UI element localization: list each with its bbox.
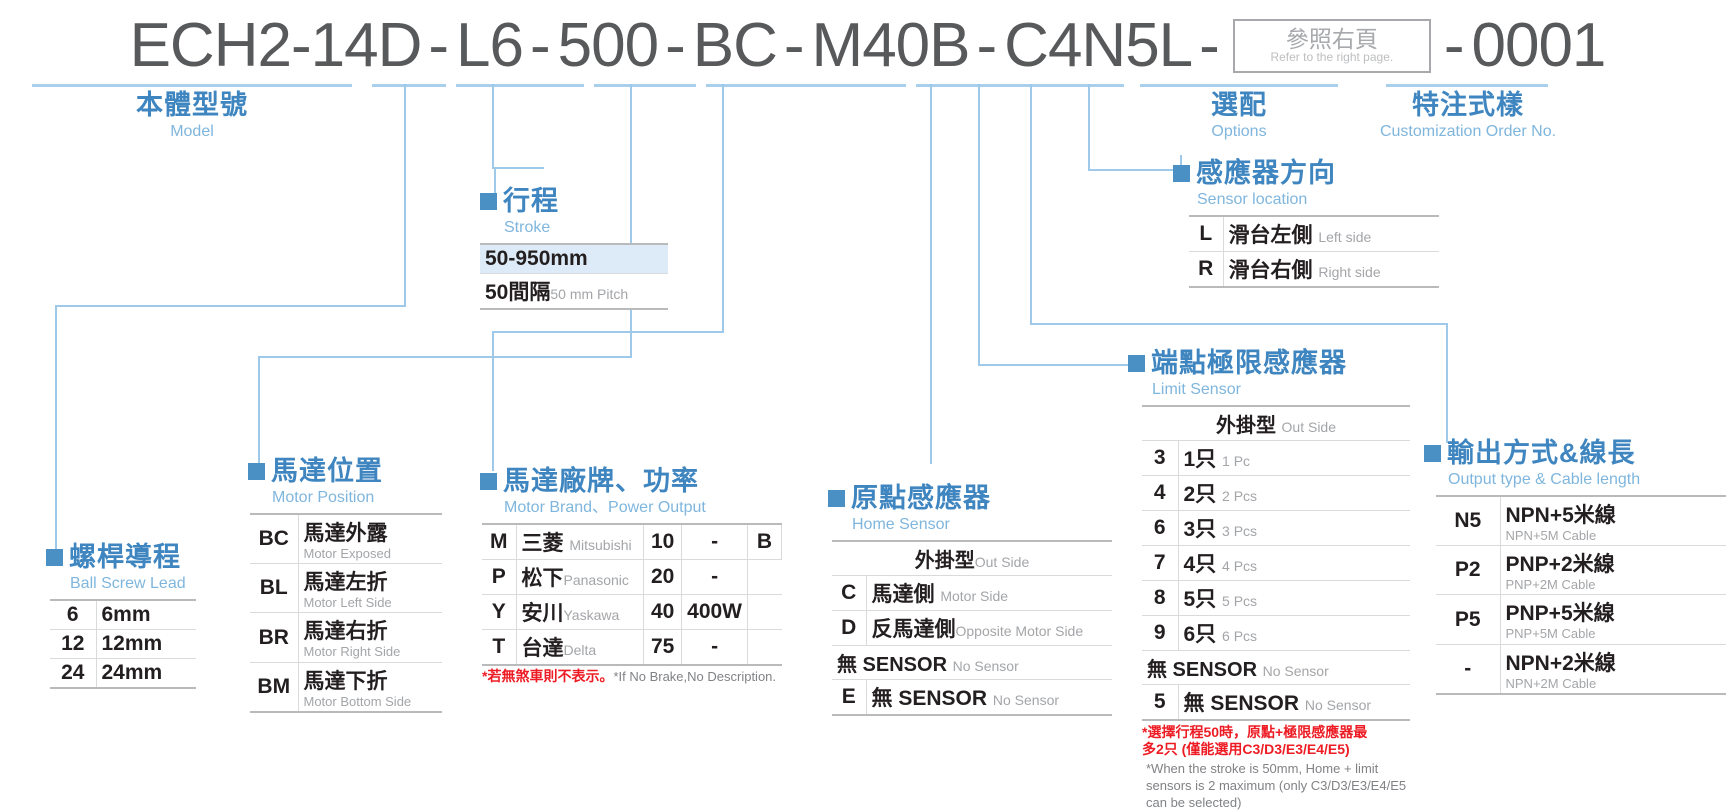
section-motor-position: 馬達位置 Motor Position BC 馬達外露 Motor Expose… (248, 458, 442, 713)
limit-sensor-cn: 1只 (1184, 448, 1217, 471)
output-type-en: PNP+2M Cable (1506, 578, 1722, 592)
stroke-pitch-cell: 50間隔50 mm Pitch (480, 273, 668, 309)
home-sensor-value: 馬達側 Motor Side (866, 575, 1112, 610)
product-code-line: ECH2-14D - L6 - 500 - BC - M40B - C4N5L … (0, 6, 1735, 86)
limit-sensor-cn: 無 SENSOR (1184, 692, 1300, 715)
underline-custom (1386, 84, 1548, 87)
section-options: 選配 Options (1140, 92, 1338, 143)
limit-sensor-group1-cn: 外掛型 (1216, 415, 1276, 437)
output-type-en: NPN+5M Cable (1506, 529, 1722, 543)
motor-power-code: 75 (644, 629, 682, 665)
motor-brand-cn: 台達 (522, 637, 564, 660)
table-row: E 無 SENSOR No Sensor (832, 679, 1112, 715)
home-sensor-group2-en: No Sensor (953, 658, 1019, 674)
section-sensor-location-cn: 感應器方向 (1196, 160, 1336, 187)
motor-position-value: 馬達左折 Motor Left Side (298, 564, 442, 613)
motor-brand-key: P (482, 559, 516, 594)
motor-brand-en: Mitsubishi (569, 537, 631, 553)
ball-screw-value: 24mm (96, 658, 196, 688)
code-stroke: 500 (558, 15, 658, 77)
table-row: 12 12mm (50, 629, 196, 658)
home-sensor-en: Motor Side (940, 588, 1008, 604)
code-dash: - (777, 15, 812, 77)
motor-power-code: 40 (644, 594, 682, 629)
connector-line (258, 356, 260, 464)
code-dash: - (1192, 15, 1227, 77)
table-row: BC 馬達外露 Motor Exposed (250, 514, 442, 564)
limit-sensor-en: 3 Pcs (1222, 523, 1257, 539)
motor-power-code: 10 (644, 524, 682, 560)
section-output-type: 輸出方式&線長 Output type & Cable length N5 NP… (1424, 440, 1726, 695)
motor-watt: 400W (682, 594, 748, 629)
connector-line (492, 331, 494, 471)
table-row: D 反馬達側Opposite Motor Side (832, 610, 1112, 645)
sensor-location-en: Right side (1318, 264, 1380, 280)
home-sensor-value: 無 SENSOR No Sensor (866, 679, 1112, 715)
output-type-cn: NPN+5米線 (1506, 504, 1616, 527)
output-type-value: NPN+2米線 NPN+2M Cable (1500, 644, 1726, 694)
table-row: 50間隔50 mm Pitch (480, 273, 668, 309)
motor-brand-key: M (482, 524, 516, 560)
ball-screw-key: 24 (50, 658, 96, 688)
output-type-cn: NPN+2米線 (1506, 652, 1616, 675)
table-row: 6 3只 3 Pcs (1142, 510, 1410, 545)
motor-watt: - (682, 524, 748, 560)
limit-sensor-value: 5只 5 Pcs (1178, 580, 1410, 615)
limit-sensor-cn: 4只 (1184, 553, 1217, 576)
section-stroke-cn: 行程 (503, 188, 559, 215)
motor-position-cn: 馬達外露 (304, 522, 388, 545)
bullet-square-icon (1128, 355, 1145, 372)
code-motor-position: BC (693, 15, 777, 77)
underline-motor-brand (706, 84, 906, 87)
section-motor-position-cn: 馬達位置 (271, 458, 383, 485)
table-row: 8 5只 5 Pcs (1142, 580, 1410, 615)
limit-sensor-note-cn-line1: *選擇行程50時，原點+極限感應器最 (1142, 724, 1430, 742)
limit-sensor-en: 5 Pcs (1222, 593, 1257, 609)
sensor-location-key: R (1189, 251, 1223, 287)
underline-screw (372, 84, 446, 87)
motor-position-value: 馬達下折 Motor Bottom Side (298, 662, 442, 712)
output-type-en: PNP+5M Cable (1506, 627, 1722, 641)
code-custom: 0001 (1471, 15, 1605, 77)
table-row: BL 馬達左折 Motor Left Side (250, 564, 442, 613)
table-row: 無 SENSOR No Sensor (1142, 650, 1410, 684)
home-sensor-cn: 反馬達側 (872, 618, 956, 641)
motor-watt: - (682, 629, 748, 665)
motor-brake-code (748, 629, 782, 665)
stroke-table: 50-950mm 50間隔50 mm Pitch (480, 243, 668, 310)
table-row: P 松下Panasonic 20 - (482, 559, 782, 594)
section-ball-screw-lead-cn: 螺桿導程 (69, 544, 181, 571)
table-row: 3 1只 1 Pc (1142, 440, 1410, 475)
motor-brand-cn: 安川 (522, 602, 564, 625)
table-row: BR 馬達右折 Motor Right Side (250, 613, 442, 662)
connector-line (1446, 323, 1448, 443)
section-output-type-cn: 輸出方式&線長 (1447, 440, 1636, 467)
motor-brand-name: 台達Delta (516, 629, 644, 665)
home-sensor-key: E (832, 679, 866, 715)
connector-line (492, 167, 544, 169)
motor-brand-cn: 松下 (522, 567, 564, 590)
limit-sensor-key: 9 (1142, 615, 1178, 650)
section-stroke-en: Stroke (504, 218, 668, 239)
code-dash: - (658, 15, 693, 77)
motor-position-key: BC (250, 514, 298, 564)
output-type-table: N5 NPN+5米線 NPN+5M Cable P2 PNP+2米線 PNP+2… (1436, 495, 1726, 695)
home-sensor-group-outside: 外掛型Out Side (832, 541, 1112, 576)
table-row: P5 PNP+5米線 PNP+5M Cable (1436, 595, 1726, 644)
code-motor-brand: M40B (812, 15, 970, 77)
limit-sensor-value: 4只 4 Pcs (1178, 545, 1410, 580)
motor-watt: - (682, 559, 748, 594)
section-model: 本體型號 Model (92, 92, 292, 143)
home-sensor-group2-cn: 無 SENSOR (837, 654, 947, 676)
table-row: C 馬達側 Motor Side (832, 575, 1112, 610)
section-sensor-location: 感應器方向 Sensor location L 滑台左側 Left side R… (1173, 160, 1439, 288)
motor-position-en: Motor Left Side (304, 596, 438, 610)
home-sensor-key: C (832, 575, 866, 610)
output-type-cn: PNP+2米線 (1506, 553, 1615, 576)
section-custom-cn: 特注式樣 (1412, 92, 1524, 119)
motor-brand-key: T (482, 629, 516, 665)
sensor-location-value: 滑台右側 Right side (1223, 251, 1439, 287)
sensor-location-cn: 滑台右側 (1229, 259, 1313, 282)
section-model-en: Model (92, 122, 292, 143)
section-custom-en: Customization Order No. (1370, 122, 1566, 143)
bullet-square-icon (248, 463, 265, 480)
table-row: 5 無 SENSOR No Sensor (1142, 684, 1410, 720)
limit-sensor-value: 3只 3 Pcs (1178, 510, 1410, 545)
motor-brand-note-en: *If No Brake,No Description. (613, 669, 776, 684)
section-limit-sensor-cn: 端點極限感應器 (1151, 350, 1347, 377)
output-type-value: PNP+5米線 PNP+5M Cable (1500, 595, 1726, 644)
table-row: P2 PNP+2米線 PNP+2M Cable (1436, 546, 1726, 595)
limit-sensor-value: 無 SENSOR No Sensor (1178, 684, 1410, 720)
connector-line (1088, 169, 1182, 171)
ball-screw-value: 6mm (96, 600, 196, 630)
underline-options (1140, 84, 1338, 87)
limit-sensor-en: No Sensor (1305, 697, 1371, 713)
motor-brake-code: B (748, 524, 782, 560)
section-ball-screw-lead: 螺桿導程 Ball Screw Lead 6 6mm 12 12mm 24 24… (46, 544, 196, 689)
connector-line (404, 84, 406, 306)
connector-line (978, 364, 1128, 366)
limit-sensor-key: 6 (1142, 510, 1178, 545)
limit-sensor-cn: 2只 (1184, 483, 1217, 506)
motor-brand-name: 松下Panasonic (516, 559, 644, 594)
motor-position-table: BC 馬達外露 Motor Exposed BL 馬達左折 Motor Left… (250, 513, 442, 713)
section-home-sensor-en: Home Sensor (852, 515, 1112, 536)
connector-line (1030, 84, 1032, 324)
section-motor-brand-en: Motor Brand、Power Output (504, 498, 782, 519)
limit-sensor-key: 7 (1142, 545, 1178, 580)
table-row: 50-950mm (480, 244, 668, 274)
bullet-square-icon (1424, 445, 1441, 462)
motor-position-cn: 馬達右折 (304, 620, 388, 643)
connector-line (930, 84, 932, 464)
connector-line (55, 305, 57, 550)
table-row: - NPN+2米線 NPN+2M Cable (1436, 644, 1726, 694)
limit-sensor-en: 6 Pcs (1222, 628, 1257, 644)
output-type-value: NPN+5米線 NPN+5M Cable (1500, 496, 1726, 546)
motor-position-en: Motor Bottom Side (304, 695, 438, 709)
limit-sensor-group1-en: Out Side (1282, 419, 1336, 435)
ball-screw-lead-table: 6 6mm 12 12mm 24 24mm (50, 599, 196, 689)
code-model: ECH2-14D (130, 15, 422, 77)
code-dash: - (523, 15, 558, 77)
ball-screw-value: 12mm (96, 629, 196, 658)
table-row: 24 24mm (50, 658, 196, 688)
limit-sensor-group-nosensor: 無 SENSOR No Sensor (1142, 650, 1410, 684)
code-dash: - (1437, 15, 1472, 77)
section-options-en: Options (1140, 122, 1338, 143)
motor-position-en: Motor Right Side (304, 645, 438, 659)
limit-sensor-value: 1只 1 Pc (1178, 440, 1410, 475)
code-options-box-en: Refer to the right page. (1270, 51, 1393, 64)
output-type-key: P5 (1436, 595, 1500, 644)
connector-line (978, 84, 980, 365)
motor-brake-code (748, 594, 782, 629)
section-options-cn: 選配 (1211, 92, 1267, 119)
limit-sensor-group2-cn: 無 SENSOR (1147, 659, 1257, 681)
motor-position-value: 馬達外露 Motor Exposed (298, 514, 442, 564)
motor-brand-name: 安川Yaskawa (516, 594, 644, 629)
limit-sensor-table: 外掛型 Out Side 3 1只 1 Pc 4 2只 2 Pcs 6 3只 3… (1142, 405, 1410, 721)
limit-sensor-cn: 3只 (1184, 518, 1217, 541)
limit-sensor-key: 4 (1142, 475, 1178, 510)
stroke-pitch-en: 50 mm Pitch (550, 286, 628, 302)
limit-sensor-value: 2只 2 Pcs (1178, 475, 1410, 510)
sensor-location-en: Left side (1318, 229, 1371, 245)
table-row: 6 6mm (50, 600, 196, 630)
connector-line (1030, 323, 1448, 325)
connector-line (1088, 84, 1090, 170)
limit-sensor-value: 6只 6 Pcs (1178, 615, 1410, 650)
table-row: 外掛型Out Side (832, 541, 1112, 576)
output-type-en: NPN+2M Cable (1506, 677, 1722, 691)
home-sensor-group1-cn: 外掛型 (915, 550, 975, 572)
limit-sensor-group-outside: 外掛型 Out Side (1142, 406, 1410, 441)
code-dash: - (970, 15, 1005, 77)
table-row: N5 NPN+5米線 NPN+5M Cable (1436, 496, 1726, 546)
sensor-location-value: 滑台左側 Left side (1223, 216, 1439, 252)
home-sensor-en: No Sensor (993, 692, 1059, 708)
motor-brand-key: Y (482, 594, 516, 629)
section-custom: 特注式樣 Customization Order No. (1370, 92, 1566, 143)
motor-brand-note-cn: *若無煞車則不表示。 (482, 668, 613, 684)
output-type-key: - (1436, 644, 1500, 694)
bullet-square-icon (480, 473, 497, 490)
motor-brand-en: Panasonic (564, 572, 629, 588)
section-motor-brand: 馬達廠牌、功率 Motor Brand、Power Output M 三菱 Mi… (480, 468, 782, 686)
sensor-location-cn: 滑台左側 (1229, 224, 1313, 247)
motor-position-key: BR (250, 613, 298, 662)
stroke-pitch-cn: 50間隔 (485, 281, 550, 304)
stroke-range: 50-950mm (480, 244, 668, 274)
bullet-square-icon (828, 490, 845, 507)
motor-position-key: BM (250, 662, 298, 712)
sensor-location-key: L (1189, 216, 1223, 252)
table-row: 9 6只 6 Pcs (1142, 615, 1410, 650)
code-screw-lead: L6 (456, 15, 523, 77)
connector-line (722, 84, 724, 332)
code-sensor: C4N5L (1004, 15, 1192, 77)
bullet-square-icon (1173, 165, 1190, 182)
output-type-key: P2 (1436, 546, 1500, 595)
underline-motor-position (594, 84, 696, 87)
limit-sensor-en: 2 Pcs (1222, 488, 1257, 504)
bullet-square-icon (480, 193, 497, 210)
motor-brand-en: Delta (564, 642, 597, 658)
home-sensor-value: 反馬達側Opposite Motor Side (866, 610, 1112, 645)
section-home-sensor-cn: 原點感應器 (851, 485, 991, 512)
limit-sensor-note-cn-line2: 多2只 (僅能選用C3/D3/E3/E4/E5) (1142, 741, 1430, 759)
limit-sensor-group2-en: No Sensor (1263, 663, 1329, 679)
motor-power-code: 20 (644, 559, 682, 594)
home-sensor-en: Opposite Motor Side (956, 623, 1084, 639)
motor-brand-table: M 三菱 Mitsubishi 10 - B P 松下Panasonic 20 … (482, 523, 782, 666)
motor-position-en: Motor Exposed (304, 547, 438, 561)
section-motor-position-en: Motor Position (272, 488, 442, 509)
table-row: 外掛型 Out Side (1142, 406, 1410, 441)
section-limit-sensor-en: Limit Sensor (1152, 380, 1430, 401)
motor-position-cn: 馬達左折 (304, 571, 388, 594)
motor-brake-code (748, 559, 782, 594)
motor-brand-cn: 三菱 (522, 532, 564, 555)
home-sensor-table: 外掛型Out Side C 馬達側 Motor Side D 反馬達側Oppos… (832, 540, 1112, 716)
home-sensor-key: D (832, 610, 866, 645)
connector-line (55, 305, 406, 307)
table-row: L 滑台左側 Left side (1189, 216, 1439, 252)
home-sensor-cn: 無 SENSOR (872, 687, 988, 710)
connector-line (492, 84, 494, 168)
limit-sensor-cn: 6只 (1184, 623, 1217, 646)
motor-brand-en: Yaskawa (564, 607, 620, 623)
limit-sensor-key: 5 (1142, 684, 1178, 720)
ball-screw-key: 6 (50, 600, 96, 630)
home-sensor-cn: 馬達側 (872, 583, 935, 606)
underline-sensor (916, 84, 1124, 87)
code-dash: - (421, 15, 456, 77)
section-sensor-location-en: Sensor location (1197, 190, 1439, 211)
motor-brand-name: 三菱 Mitsubishi (516, 524, 644, 560)
connector-line (492, 331, 724, 333)
underline-stroke (456, 84, 584, 87)
table-row: R 滑台右側 Right side (1189, 251, 1439, 287)
section-motor-brand-cn: 馬達廠牌、功率 (503, 468, 699, 495)
limit-sensor-note-cn: *選擇行程50時，原點+極限感應器最 多2只 (僅能選用C3/D3/E3/E4/… (1142, 724, 1430, 759)
limit-sensor-note-en: *When the stroke is 50mm, Home + limit s… (1146, 761, 1408, 811)
section-ball-screw-lead-en: Ball Screw Lead (70, 574, 196, 595)
connector-line (258, 356, 632, 358)
section-home-sensor: 原點感應器 Home Sensor 外掛型Out Side C 馬達側 Moto… (828, 485, 1112, 716)
table-row: 無 SENSOR No Sensor (832, 645, 1112, 679)
limit-sensor-key: 8 (1142, 580, 1178, 615)
limit-sensor-key: 3 (1142, 440, 1178, 475)
bullet-square-icon (46, 549, 63, 566)
limit-sensor-cn: 5只 (1184, 588, 1217, 611)
section-limit-sensor: 端點極限感應器 Limit Sensor 外掛型 Out Side 3 1只 1… (1128, 350, 1430, 811)
home-sensor-group1-en: Out Side (975, 554, 1029, 570)
motor-position-value: 馬達右折 Motor Right Side (298, 613, 442, 662)
code-options-box[interactable]: 參照右頁 Refer to the right page. (1233, 19, 1431, 73)
table-row: M 三菱 Mitsubishi 10 - B (482, 524, 782, 560)
output-type-key: N5 (1436, 496, 1500, 546)
table-row: Y 安川Yaskawa 40 400W (482, 594, 782, 629)
table-row: 7 4只 4 Pcs (1142, 545, 1410, 580)
table-row: 4 2只 2 Pcs (1142, 475, 1410, 510)
section-model-cn: 本體型號 (136, 92, 248, 119)
ball-screw-key: 12 (50, 629, 96, 658)
underline-model (32, 84, 352, 87)
section-output-type-en: Output type & Cable length (1448, 470, 1726, 491)
output-type-value: PNP+2米線 PNP+2M Cable (1500, 546, 1726, 595)
output-type-cn: PNP+5米線 (1506, 602, 1615, 625)
section-stroke: 行程 Stroke 50-950mm 50間隔50 mm Pitch (480, 188, 668, 310)
code-options-box-cn: 參照右頁 (1286, 27, 1378, 51)
limit-sensor-en: 1 Pc (1222, 453, 1250, 469)
table-row: BM 馬達下折 Motor Bottom Side (250, 662, 442, 712)
motor-position-cn: 馬達下折 (304, 670, 388, 693)
limit-sensor-en: 4 Pcs (1222, 558, 1257, 574)
home-sensor-group-nosensor: 無 SENSOR No Sensor (832, 645, 1112, 679)
table-row: T 台達Delta 75 - (482, 629, 782, 665)
sensor-location-table: L 滑台左側 Left side R 滑台右側 Right side (1189, 215, 1439, 288)
motor-position-key: BL (250, 564, 298, 613)
